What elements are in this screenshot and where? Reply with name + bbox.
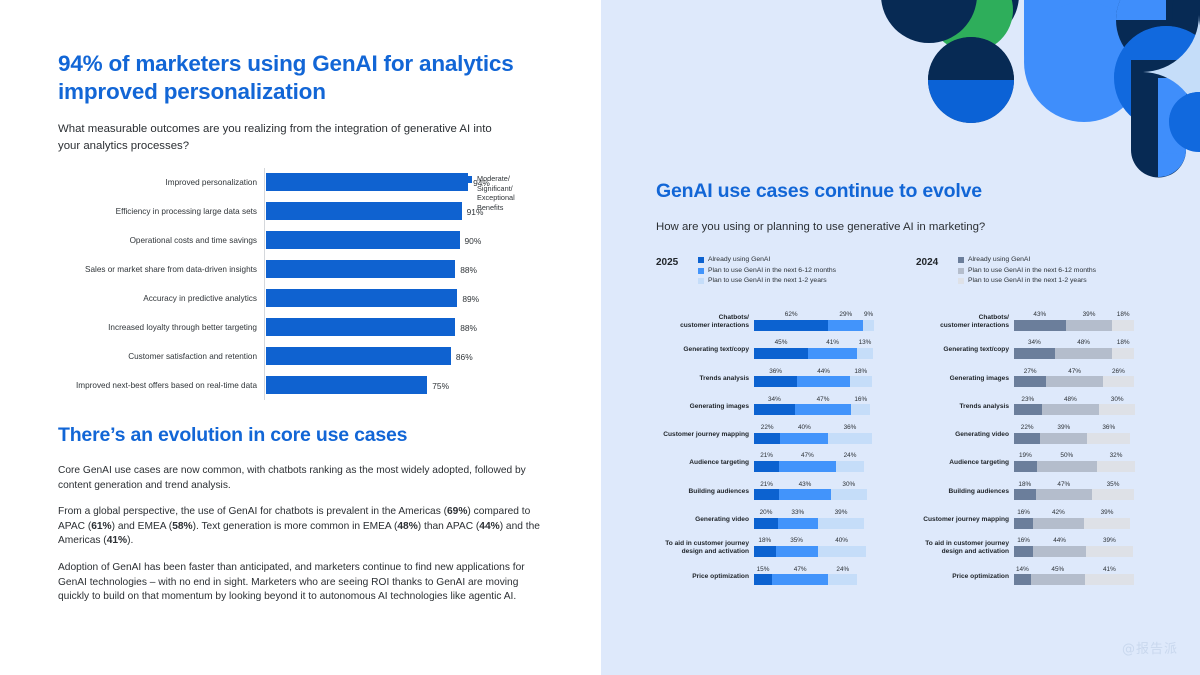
stacked-segment-value: 45%	[1031, 566, 1085, 573]
bar-row-bar	[266, 318, 455, 336]
legend-label-benefits: Moderate/ Significant/ Exceptional Benef…	[477, 174, 537, 212]
stacked-segment	[1046, 376, 1102, 387]
bar-row-label: Sales or market share from data-driven i…	[58, 255, 257, 284]
stacked-segment	[754, 376, 797, 387]
stacked-segment-value: 20%	[754, 509, 778, 516]
stacked-row-label: Generating images	[916, 375, 1009, 383]
bar-row-bar	[266, 231, 460, 249]
stacked-segment-value: 36%	[754, 368, 797, 375]
stacked-segment-value: 47%	[795, 396, 851, 403]
stacked-segment-value: 47%	[1046, 368, 1102, 375]
stacked-bar-row: Generating video22%39%36%	[916, 423, 1176, 451]
stacked-row-label: Price optimization	[656, 573, 749, 581]
stacked-track: 23%48%30%	[1014, 404, 1134, 415]
stacked-bar-row: Price optimization14%45%41%	[916, 565, 1176, 593]
legend-text: Plan to use GenAI in the next 6-12 month…	[708, 266, 836, 276]
stacked-segment-value: 39%	[1066, 311, 1113, 318]
bar-row-bar	[266, 347, 451, 365]
stacked-segment	[754, 404, 795, 415]
stacked-segment-value: 41%	[1085, 566, 1134, 573]
stacked-bar-row: Customer journey mapping22%40%36%	[656, 423, 916, 451]
legend-row: Plan to use GenAI in the next 1-2 years	[958, 276, 1173, 287]
stacked-segment	[1014, 518, 1033, 529]
stacked-segment-value: 47%	[772, 566, 828, 573]
bar-row-label: Improved personalization	[58, 168, 257, 197]
stacked-row-label: Chatbots/customer interactions	[656, 314, 749, 330]
stacked-segment	[1014, 546, 1033, 557]
stacked-track: 16%42%39%	[1014, 518, 1134, 529]
stacked-row-label: Customer journey mapping	[656, 431, 749, 439]
stacked-row-label: Audience targeting	[656, 459, 749, 467]
stacked-segment	[754, 574, 772, 585]
stacked-bar-row: Generating text/copy34%48%18%	[916, 338, 1176, 366]
circles-svg	[601, 0, 1200, 180]
stacked-segment	[795, 404, 851, 415]
stacked-track: 18%35%40%	[754, 546, 874, 557]
stacked-segment	[818, 518, 865, 529]
stacked-segment	[1014, 320, 1066, 331]
bar-row-value: 88%	[460, 313, 477, 342]
stacked-row-label: Building audiences	[656, 488, 749, 496]
section-heading-evolution: There’s an evolution in core use cases	[58, 424, 538, 447]
group-legend: Already using GenAIPlan to use GenAI in …	[958, 255, 1173, 287]
stacked-segment	[1112, 348, 1134, 359]
stacked-segment-value: 16%	[1014, 509, 1033, 516]
analytics-question: What measurable outcomes are you realizi…	[58, 121, 508, 154]
right-panel: GenAI use cases continue to evolve How a…	[601, 0, 1200, 675]
stacked-segment-value: 43%	[779, 481, 831, 488]
bar-row-value: 89%	[462, 284, 479, 313]
stacked-segment-value: 62%	[754, 311, 828, 318]
stacked-segment-value: 22%	[754, 424, 780, 431]
stacked-segment-value: 16%	[1014, 537, 1033, 544]
legend-text: Plan to use GenAI in the next 6-12 month…	[968, 266, 1096, 276]
stacked-segment-value: 13%	[857, 339, 873, 346]
stacked-segment	[1040, 433, 1087, 444]
stacked-segment	[1084, 518, 1131, 529]
bar-row-label: Efficiency in processing large data sets	[58, 197, 257, 226]
body-paragraph: Adoption of GenAI has been faster than a…	[58, 561, 540, 605]
stacked-track: 62%29%9%	[754, 320, 874, 331]
bar-row-label: Increased loyalty through better targeti…	[58, 313, 257, 342]
stacked-segment	[1092, 489, 1134, 500]
stacked-segment-value: 18%	[1014, 481, 1036, 488]
bar-row-value: 86%	[456, 342, 473, 371]
stacked-segment-value: 21%	[754, 481, 779, 488]
stacked-segment	[1086, 546, 1133, 557]
legend-swatch	[698, 257, 704, 263]
stacked-segment	[778, 518, 818, 529]
stacked-segment-value: 45%	[754, 339, 808, 346]
stacked-bar-row: Building audiences21%43%30%	[656, 480, 916, 508]
body-copy: Core GenAI use cases are now common, wit…	[58, 464, 540, 617]
stacked-segment	[779, 461, 835, 472]
decorative-circles-graphic	[601, 0, 1200, 180]
stacked-segment-value: 29%	[828, 311, 863, 318]
legend-text: Already using GenAI	[708, 255, 770, 265]
stacked-segment	[1066, 320, 1113, 331]
stacked-segment	[1031, 574, 1085, 585]
stacked-bar-chart-2025: Chatbots/customer interactions62%29%9%Ge…	[656, 310, 916, 593]
stacked-track: 34%48%18%	[1014, 348, 1134, 359]
stacked-segment	[1055, 348, 1113, 359]
stacked-segment	[1033, 546, 1086, 557]
legend-text: Already using GenAI	[968, 255, 1030, 265]
usecases-question: How are you using or planning to use gen…	[656, 219, 1126, 235]
stacked-segment	[828, 433, 871, 444]
stacked-segment	[779, 489, 831, 500]
bar-chart-row: Improved next-best offers based on real-…	[58, 371, 558, 400]
stacked-bar-row: Audience targeting19%50%32%	[916, 451, 1176, 479]
bar-row-bar	[266, 260, 455, 278]
stacked-track: 19%50%32%	[1014, 461, 1134, 472]
stacked-segment-value: 39%	[1040, 424, 1087, 431]
stacked-bar-row: Chatbots/customer interactions43%39%18%	[916, 310, 1176, 338]
bar-chart-row: Increased loyalty through better targeti…	[58, 313, 558, 342]
bar-row-label: Operational costs and time savings	[58, 226, 257, 255]
legend-row: Plan to use GenAI in the next 6-12 month…	[958, 266, 1173, 277]
stacked-segment	[863, 320, 874, 331]
legend-swatch	[958, 278, 964, 284]
stacked-bar-row: To aid in customer journeydesign and act…	[656, 536, 916, 564]
bar-chart-row: Operational costs and time savings90%	[58, 226, 558, 255]
legend-swatch	[958, 257, 964, 263]
stacked-track: 16%44%39%	[1014, 546, 1134, 557]
stacked-bar-chart-2024: Chatbots/customer interactions43%39%18%G…	[916, 310, 1176, 593]
stacked-segment-value: 16%	[851, 396, 870, 403]
stacked-row-label: To aid in customer journeydesign and act…	[656, 540, 749, 556]
stacked-segment-value: 9%	[863, 311, 874, 318]
stacked-segment-value: 18%	[850, 368, 872, 375]
bar-row-bar	[266, 289, 457, 307]
stacked-track: 36%44%18%	[754, 376, 874, 387]
stacked-segment-value: 34%	[1014, 339, 1055, 346]
stacked-segment	[1087, 433, 1130, 444]
stacked-segment-value: 44%	[797, 368, 850, 375]
stacked-segment	[754, 489, 779, 500]
stacked-row-label: Price optimization	[916, 573, 1009, 581]
group-year-label: 2024	[916, 257, 938, 268]
bar-row-value: 75%	[432, 371, 449, 400]
left-panel: 94% of marketers using GenAI for analyti…	[0, 0, 601, 675]
stacked-row-label: Generating video	[916, 431, 1009, 439]
stacked-segment	[828, 320, 863, 331]
stacked-row-label: Chatbots/customer interactions	[916, 314, 1009, 330]
bar-chart-row: Sales or market share from data-driven i…	[58, 255, 558, 284]
stacked-segment	[1033, 518, 1083, 529]
stacked-segment-value: 23%	[1014, 396, 1042, 403]
stacked-segment-value: 35%	[1092, 481, 1134, 488]
stacked-row-label: Generating video	[656, 516, 749, 524]
stacked-segment-value: 48%	[1042, 396, 1100, 403]
stacked-segment	[1014, 348, 1055, 359]
stacked-segment-value: 15%	[754, 566, 772, 573]
stacked-segment-value: 22%	[1014, 424, 1040, 431]
stacked-segment-value: 36%	[1087, 424, 1130, 431]
stacked-track: 21%43%30%	[754, 489, 874, 500]
body-paragraph: From a global perspective, the use of Ge…	[58, 505, 540, 549]
bar-chart-row: Accuracy in predictive analytics89%	[58, 284, 558, 313]
bar-row-label: Customer satisfaction and retention	[58, 342, 257, 371]
stacked-segment	[818, 546, 866, 557]
stacked-segment-value: 47%	[779, 452, 835, 459]
stacked-segment	[1036, 489, 1092, 500]
stacked-segment	[828, 574, 857, 585]
bar-row-bar	[266, 173, 468, 191]
stacked-segment	[1014, 376, 1046, 387]
stacked-segment	[808, 348, 857, 359]
stacked-segment	[780, 433, 828, 444]
stacked-track: 22%39%36%	[1014, 433, 1134, 444]
stacked-segment	[850, 376, 872, 387]
stacked-segment-value: 40%	[780, 424, 828, 431]
stacked-segment	[1085, 574, 1134, 585]
stacked-segment	[851, 404, 870, 415]
legend-swatch	[698, 278, 704, 284]
stacked-segment-value: 39%	[1086, 537, 1133, 544]
bar-row-bar	[266, 202, 462, 220]
stacked-segment-value: 14%	[1014, 566, 1031, 573]
stacked-segment-value: 50%	[1037, 452, 1097, 459]
stacked-segment-value: 44%	[1033, 537, 1086, 544]
stacked-row-label: Building audiences	[916, 488, 1009, 496]
stacked-bar-row: Chatbots/customer interactions62%29%9%	[656, 310, 916, 338]
bar-row-label: Improved next-best offers based on real-…	[58, 371, 257, 400]
stacked-row-label: Generating images	[656, 403, 749, 411]
stacked-segment	[797, 376, 850, 387]
stacked-track: 43%39%18%	[1014, 320, 1134, 331]
stacked-segment	[1014, 404, 1042, 415]
stacked-row-label: Trends analysis	[656, 375, 749, 383]
stacked-segment-value: 21%	[754, 452, 779, 459]
stacked-segment	[1099, 404, 1135, 415]
stacked-segment-value: 18%	[1112, 311, 1134, 318]
stacked-track: 22%40%36%	[754, 433, 874, 444]
usecases-heading: GenAI use cases continue to evolve	[656, 180, 1116, 203]
bar-row-value: 88%	[460, 255, 477, 284]
stacked-segment	[754, 320, 828, 331]
stacked-track: 20%33%39%	[754, 518, 874, 529]
stacked-segment-value: 26%	[1103, 368, 1134, 375]
legend-text: Plan to use GenAI in the next 1-2 years	[708, 276, 827, 286]
stacked-bar-row: Building audiences18%47%35%	[916, 480, 1176, 508]
stacked-bar-row: Audience targeting21%47%24%	[656, 451, 916, 479]
stacked-track: 18%47%35%	[1014, 489, 1134, 500]
stacked-segment-value: 36%	[828, 424, 871, 431]
stacked-bar-row: Generating text/copy45%41%13%	[656, 338, 916, 366]
watermark: @报告派	[1122, 638, 1178, 657]
bar-chart-row: Customer satisfaction and retention86%	[58, 342, 558, 371]
stacked-segment-value: 47%	[1036, 481, 1092, 488]
stacked-bar-row: Generating video20%33%39%	[656, 508, 916, 536]
stacked-segment-value: 39%	[818, 509, 865, 516]
stacked-track: 15%47%24%	[754, 574, 874, 585]
legend-row: Plan to use GenAI in the next 6-12 month…	[698, 266, 913, 277]
legend-swatch	[958, 268, 964, 274]
stacked-segment	[1112, 320, 1134, 331]
stacked-bar-row: To aid in customer journeydesign and act…	[916, 536, 1176, 564]
stacked-segment	[831, 489, 867, 500]
bar-row-value: 90%	[465, 226, 482, 255]
stacked-segment	[772, 574, 828, 585]
stacked-segment	[754, 546, 776, 557]
stacked-segment	[1014, 489, 1036, 500]
stacked-segment-value: 30%	[1099, 396, 1135, 403]
stacked-segment	[776, 546, 818, 557]
stacked-track: 45%41%13%	[754, 348, 874, 359]
stacked-bar-row: Generating images27%47%26%	[916, 367, 1176, 395]
stacked-row-label: Generating text/copy	[916, 346, 1009, 354]
stacked-segment	[1042, 404, 1100, 415]
stacked-row-label: Audience targeting	[916, 459, 1009, 467]
stacked-bar-row: Price optimization15%47%24%	[656, 565, 916, 593]
stacked-bar-row: Trends analysis36%44%18%	[656, 367, 916, 395]
stacked-segment-value: 33%	[778, 509, 818, 516]
stacked-segment-value: 24%	[836, 452, 865, 459]
legend-row: Already using GenAI	[698, 255, 913, 266]
stacked-segment-value: 24%	[828, 566, 857, 573]
stacked-row-label: Customer journey mapping	[916, 516, 1009, 524]
stacked-segment	[1014, 574, 1031, 585]
stacked-bar-row: Generating images34%47%16%	[656, 395, 916, 423]
legend-row: Plan to use GenAI in the next 1-2 years	[698, 276, 913, 287]
stacked-segment	[1014, 433, 1040, 444]
stacked-segment-value: 39%	[1084, 509, 1131, 516]
stacked-segment	[754, 348, 808, 359]
page-title: 94% of marketers using GenAI for analyti…	[58, 50, 528, 106]
stacked-segment	[1037, 461, 1097, 472]
body-paragraph: Core GenAI use cases are now common, wit…	[58, 464, 540, 493]
stacked-segment	[754, 433, 780, 444]
legend-text: Plan to use GenAI in the next 1-2 years	[968, 276, 1087, 286]
stacked-segment	[1103, 376, 1134, 387]
stacked-row-label: To aid in customer journeydesign and act…	[916, 540, 1009, 556]
stacked-track: 27%47%26%	[1014, 376, 1134, 387]
group-year-label: 2025	[656, 257, 678, 268]
stacked-segment-value: 18%	[754, 537, 776, 544]
stacked-segment-value: 30%	[831, 481, 867, 488]
stacked-segment	[754, 518, 778, 529]
stacked-track: 21%47%24%	[754, 461, 874, 472]
stacked-bar-row: Trends analysis23%48%30%	[916, 395, 1176, 423]
group-legend: Already using GenAIPlan to use GenAI in …	[698, 255, 913, 287]
stacked-segment-value: 34%	[754, 396, 795, 403]
stacked-segment-value: 27%	[1014, 368, 1046, 375]
stacked-segment	[754, 461, 779, 472]
stacked-segment-value: 19%	[1014, 452, 1037, 459]
stacked-segment-value: 32%	[1097, 452, 1135, 459]
stacked-segment-value: 42%	[1033, 509, 1083, 516]
stacked-row-label: Generating text/copy	[656, 346, 749, 354]
stacked-segment-value: 48%	[1055, 339, 1113, 346]
stacked-bar-row: Customer journey mapping16%42%39%	[916, 508, 1176, 536]
stacked-segment	[1097, 461, 1135, 472]
stacked-segment	[836, 461, 865, 472]
stacked-segment-value: 18%	[1112, 339, 1134, 346]
stacked-segment	[1014, 461, 1037, 472]
stacked-segment-value: 35%	[776, 537, 818, 544]
stacked-segment	[857, 348, 873, 359]
bar-row-label: Accuracy in predictive analytics	[58, 284, 257, 313]
report-page: 94% of marketers using GenAI for analyti…	[0, 0, 1200, 675]
stacked-track: 34%47%16%	[754, 404, 874, 415]
bar-row-bar	[266, 376, 427, 394]
legend-swatch	[698, 268, 704, 274]
legend-swatch-benefits	[465, 176, 472, 183]
stacked-segment-value: 41%	[808, 339, 857, 346]
stacked-row-label: Trends analysis	[916, 403, 1009, 411]
legend-row: Already using GenAI	[958, 255, 1173, 266]
stacked-track: 14%45%41%	[1014, 574, 1134, 585]
stacked-segment-value: 43%	[1014, 311, 1066, 318]
stacked-segment-value: 40%	[818, 537, 866, 544]
